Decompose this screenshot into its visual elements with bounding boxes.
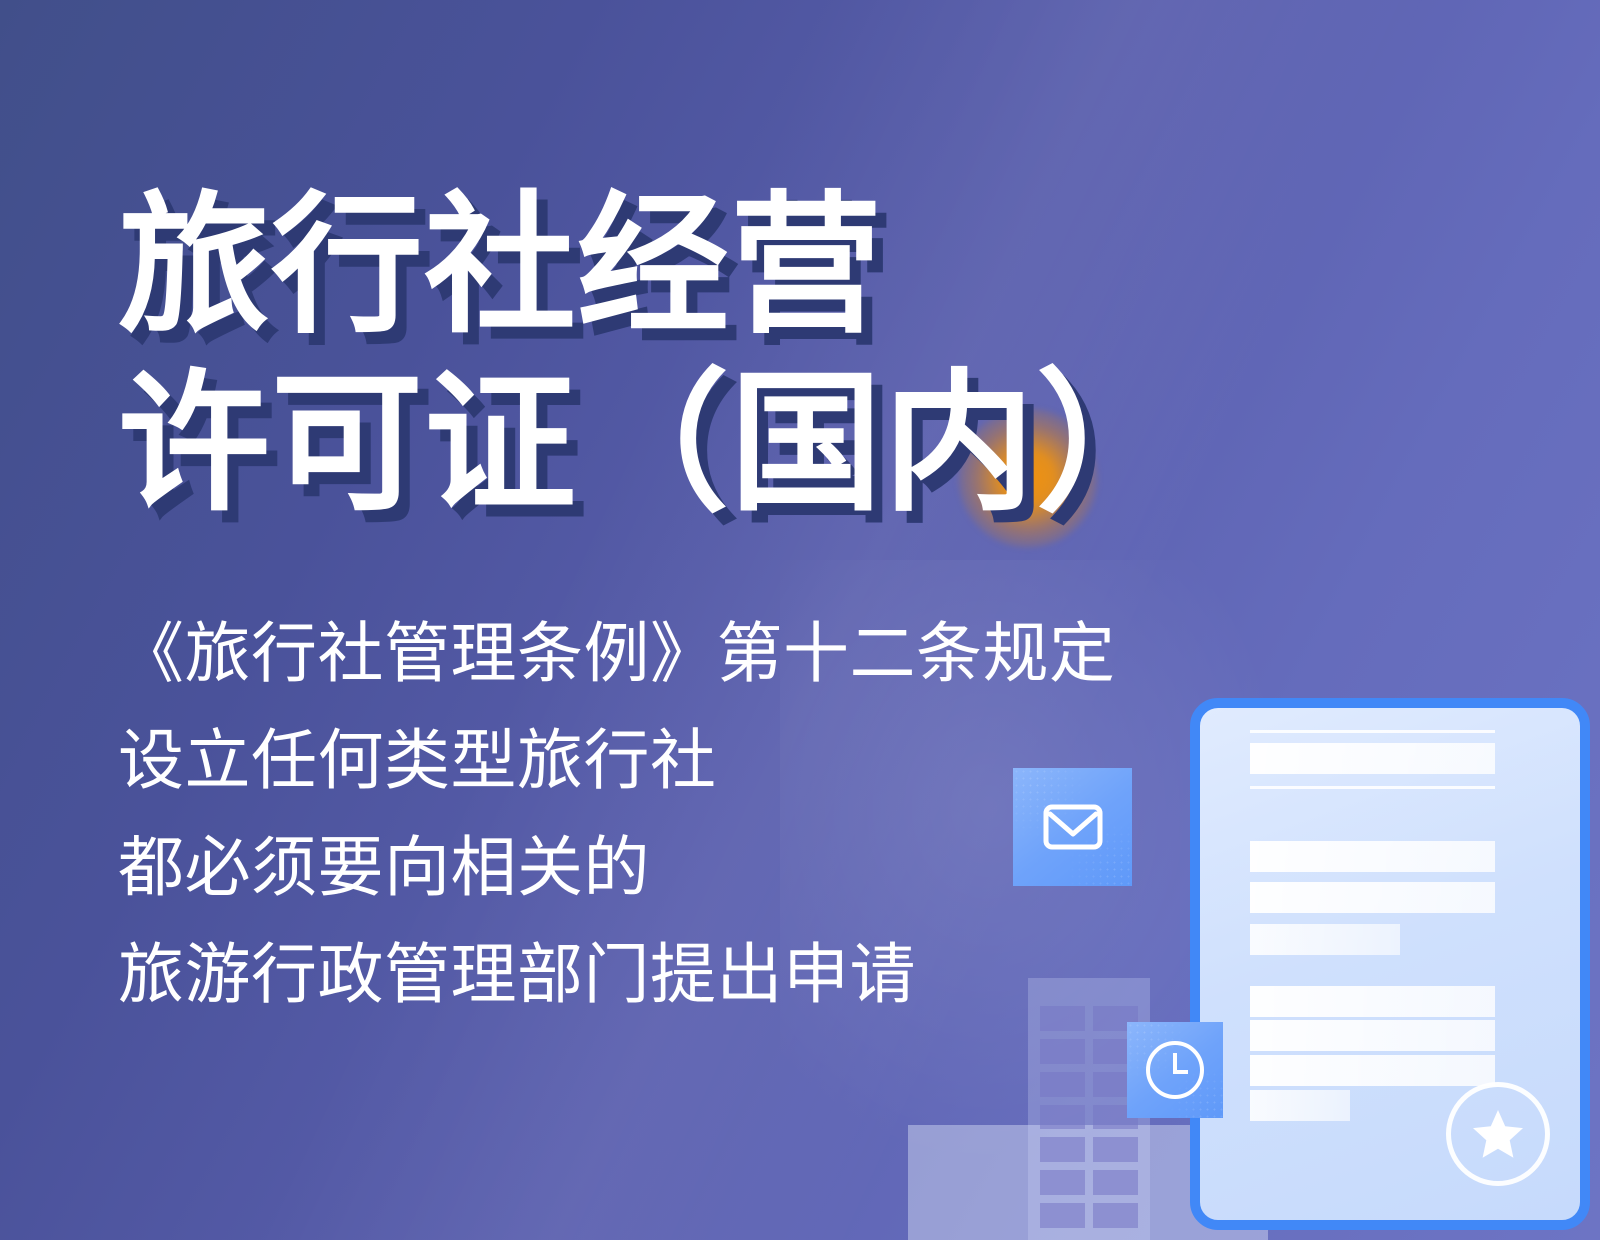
document-card [1190,698,1590,1230]
document-text-bar [1250,1090,1350,1121]
headline-block: 旅行社经营 许可证（国内） [118,178,1238,534]
star-icon [1471,1108,1525,1160]
building-window [1093,1137,1138,1162]
document-hairline [1250,730,1495,733]
document-text-bar [1250,1055,1495,1086]
document-text-bar [1250,986,1495,1017]
headline-line-2: 许可证（国内） [118,356,1238,534]
body-line-4: 旅游行政管理部门提出申请 [118,921,1116,1028]
document-text-bar [1250,841,1495,872]
body-line-3: 都必须要向相关的 [118,814,1116,921]
headline-line-1: 旅行社经营 [118,178,1238,356]
building-window [1040,1170,1085,1195]
building-window [1093,1170,1138,1195]
clock-icon [1144,1039,1206,1101]
document-text-bar [1250,924,1400,955]
body-line-2: 设立任何类型旅行社 [118,707,1116,814]
document-text-bar [1250,1020,1495,1051]
document-text-bar [1250,743,1495,774]
clock-tile [1127,1022,1223,1118]
body-line-1: 《旅行社管理条例》第十二条规定 [118,600,1116,707]
building-window [1093,1203,1138,1228]
building-window [1040,1072,1085,1097]
poster-canvas: 旅行社经营 许可证（国内） 《旅行社管理条例》第十二条规定 设立任何类型旅行社 … [0,0,1600,1240]
star-seal [1446,1082,1550,1186]
building-window [1040,1105,1085,1130]
building-window-grid [1040,1006,1138,1228]
document-hairline [1250,786,1495,789]
building-window [1040,1137,1085,1162]
document-text-bar [1250,882,1495,913]
body-copy-block: 《旅行社管理条例》第十二条规定 设立任何类型旅行社 都必须要向相关的 旅游行政管… [118,600,1116,1028]
building-window [1040,1039,1085,1064]
building-window [1040,1203,1085,1228]
